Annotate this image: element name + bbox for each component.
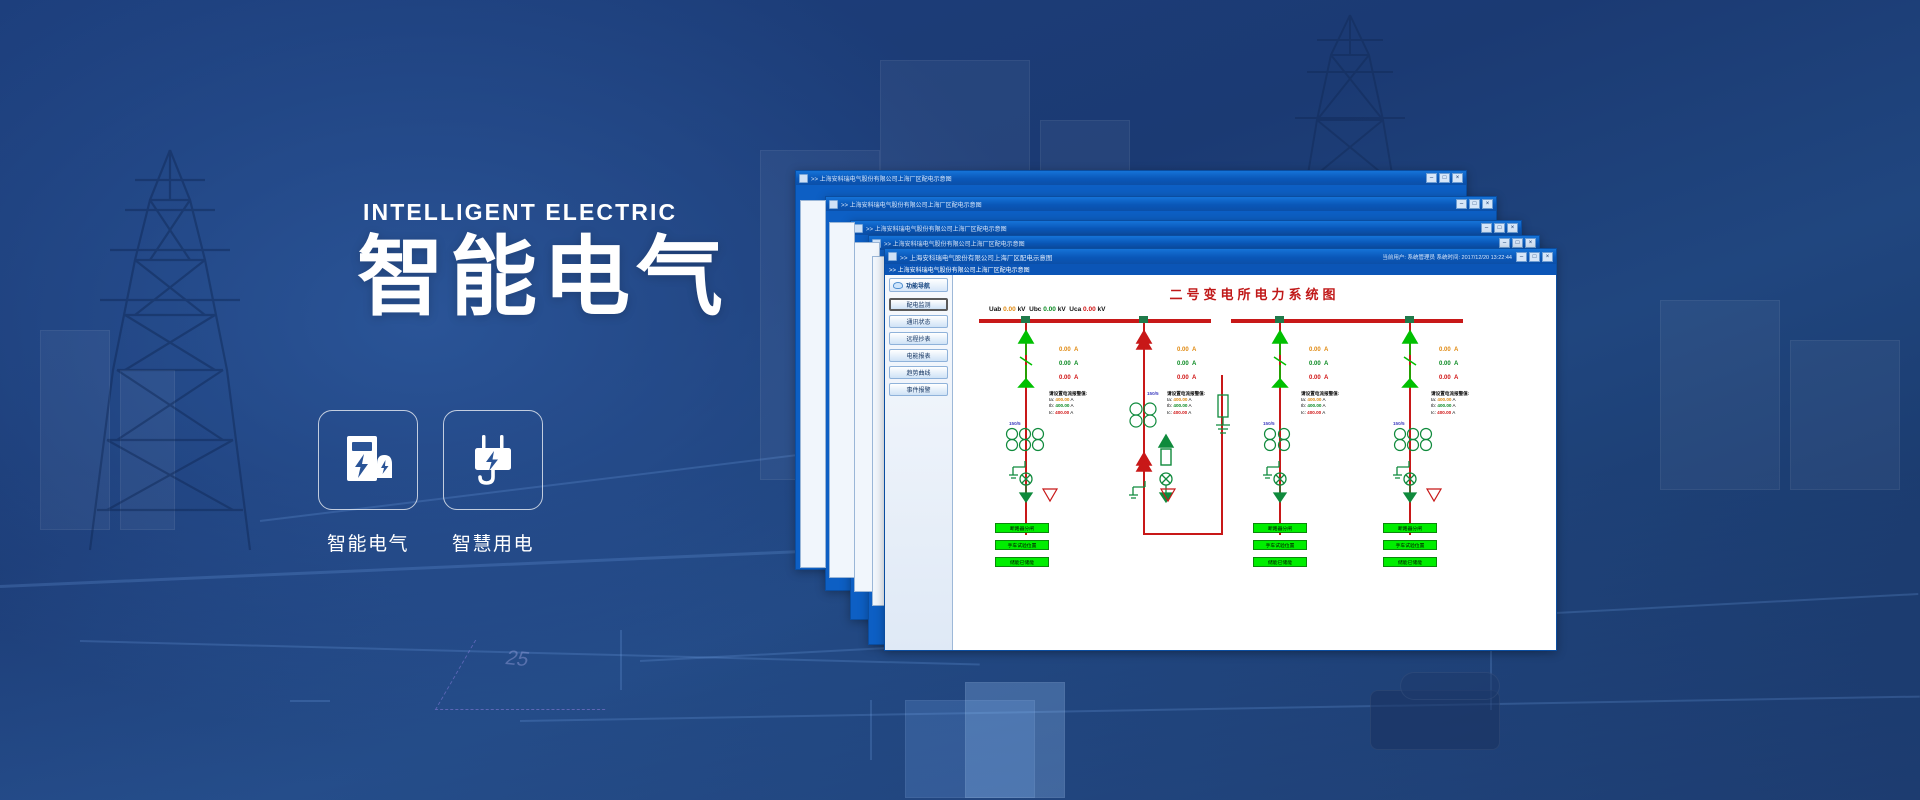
sidebar-item-label: 趋势曲线 <box>906 368 930 377</box>
window-title-text: >> 上海安科瑞电气股份有限公司上海厂区配电示意图 <box>900 252 1382 262</box>
feeder-1-current-c: 0.00 A <box>1059 375 1078 381</box>
ubc-unit: kV <box>1058 306 1066 313</box>
sidebar-item-label: 事件报警 <box>906 385 930 394</box>
window-controls[interactable]: – □ × <box>1426 173 1463 183</box>
surge-arrester-icon <box>1015 471 1037 505</box>
window-controls[interactable]: – □ × <box>1516 252 1553 262</box>
disconnector-switch-icon <box>1011 327 1041 397</box>
feeder-1-current-b: 0.00 A <box>1059 361 1078 367</box>
uca-unit: kV <box>1098 306 1106 313</box>
load-arrow-icon <box>1425 487 1443 509</box>
feeder-4-current-a: 0.00 A <box>1439 347 1458 353</box>
function-navigation-sidebar: 功能导航 配电监测 通讯状态 远程抄表 电能报表 趋势曲线 事件报警 <box>885 275 953 650</box>
window-app-icon <box>829 200 838 209</box>
window-breadcrumb-bar: >> 上海安科瑞电气股份有限公司上海厂区配电示意图 <box>885 264 1556 275</box>
minimize-icon[interactable]: – <box>1499 238 1510 248</box>
diagram-title: 二号变电所电力系统图 <box>1169 284 1339 303</box>
feeder-4-current-c: 0.00 A <box>1439 375 1458 381</box>
feeder-3-alarm-settings: 请设置电流报警值: Ia: 400.00 A Ib: 400.00 A Ic: … <box>1301 391 1339 416</box>
surge-arrester-icon <box>1399 471 1421 505</box>
sidebar-header-label: 功能导航 <box>906 281 930 290</box>
ubc-value: 0.00 <box>1043 306 1056 313</box>
ubc-label: Ubc <box>1029 306 1041 313</box>
window-app-icon <box>854 224 863 233</box>
uca-label: Uca <box>1069 306 1081 313</box>
window-titlebar[interactable]: >> 上海安科瑞电气股份有限公司上海厂区配电示意图 – □ × <box>851 221 1521 235</box>
feeder-2-current-b: 0.00 A <box>1177 361 1196 367</box>
feeder-1-status-breaker[interactable]: 断路器分闸 <box>995 523 1049 533</box>
surge-arrester-icon <box>1269 471 1291 505</box>
minimize-icon[interactable]: – <box>1516 252 1527 262</box>
maximize-icon[interactable]: □ <box>1439 173 1450 183</box>
feeder-4-alarm-settings: 请设置电流报警值: Ia: 400.00 A Ib: 400.00 A Ic: … <box>1431 391 1469 416</box>
bus-voltage-readout: Uab 0.00 kV Ubc 0.00 kV Uca 0.00 kV <box>989 306 1105 313</box>
window-titlebar[interactable]: >> 上海安科瑞电气股份有限公司上海厂区配电示意图 – □ × <box>796 171 1466 185</box>
window-title-text: >> 上海安科瑞电气股份有限公司上海厂区配电示意图 <box>884 239 1499 248</box>
navigation-book-icon <box>893 282 903 289</box>
window-app-icon <box>888 252 897 261</box>
minimize-icon[interactable]: – <box>1481 223 1492 233</box>
maximize-icon[interactable]: □ <box>1512 238 1523 248</box>
feeder-3-ct-ratio: 150/5 <box>1263 421 1275 426</box>
uab-label: Uab <box>989 306 1001 313</box>
stacked-sidebar-column <box>800 200 826 568</box>
earthing-switch-icon <box>1129 481 1163 509</box>
feeder-2-ct-ratio: 150/5 <box>1147 391 1159 396</box>
feeder-2-alarm-settings: 请设置电流报警值: Ia: 400.00 A Ib: 400.00 A Ic: … <box>1167 391 1205 416</box>
window-stack: >> 上海安科瑞电气股份有限公司上海厂区配电示意图 – □ × >> 上海安科瑞… <box>0 0 1920 800</box>
active-window[interactable]: >> 上海安科瑞电气股份有限公司上海厂区配电示意图 当前用户: 系统管理员 系统… <box>884 248 1557 651</box>
uca-value: 0.00 <box>1083 306 1096 313</box>
close-icon[interactable]: × <box>1507 223 1518 233</box>
current-transformer-icon <box>1393 427 1435 453</box>
current-transformer-icon <box>1129 401 1159 429</box>
sidebar-item-remote-reading[interactable]: 远程抄表 <box>889 332 948 345</box>
current-transformer-icon <box>1005 427 1047 453</box>
feeder-1-ct-ratio: 150/5 <box>1009 421 1021 426</box>
window-app-icon <box>799 174 808 183</box>
feeder-2-current-a: 0.00 A <box>1177 347 1196 353</box>
feeder-3-current-b: 0.00 A <box>1309 361 1328 367</box>
feeder-4-current-b: 0.00 A <box>1439 361 1458 367</box>
close-icon[interactable]: × <box>1525 238 1536 248</box>
feeder-4-status-energy[interactable]: 储能已储能 <box>1383 557 1437 567</box>
sidebar-item-label: 远程抄表 <box>906 334 930 343</box>
feeder-1-status-truck[interactable]: 手车试验位置 <box>995 540 1049 550</box>
feeder-3-current-c: 0.00 A <box>1309 375 1328 381</box>
stacked-sidebar-column <box>829 222 855 578</box>
feeder-1-current-a: 0.00 A <box>1059 347 1078 353</box>
minimize-icon[interactable]: – <box>1456 199 1467 209</box>
tie-line <box>1143 533 1223 535</box>
load-arrow-icon <box>1041 487 1059 509</box>
sidebar-header: 功能导航 <box>889 278 948 292</box>
feeder-4-status-breaker[interactable]: 断路器分闸 <box>1383 523 1437 533</box>
sidebar-item-label: 电能报表 <box>906 351 930 360</box>
sidebar-item-label: 通讯状态 <box>906 317 930 326</box>
maximize-icon[interactable]: □ <box>1469 199 1480 209</box>
sidebar-item-event-alarm[interactable]: 事件报警 <box>889 383 948 396</box>
busbar-right <box>1231 319 1463 323</box>
minimize-icon[interactable]: – <box>1426 173 1437 183</box>
feeder-3-status-energy[interactable]: 储能已储能 <box>1253 557 1307 567</box>
window-title-status: 当前用户: 系统管理员 系统时间: 2017/12/20 13:22:44 <box>1382 253 1512 261</box>
disconnector-switch-icon <box>1265 327 1295 397</box>
window-titlebar[interactable]: >> 上海安科瑞电气股份有限公司上海厂区配电示意图 当前用户: 系统管理员 系统… <box>885 249 1556 264</box>
window-title-text: >> 上海安科瑞电气股份有限公司上海厂区配电示意图 <box>841 200 1456 209</box>
close-icon[interactable]: × <box>1452 173 1463 183</box>
feeder-3-status-truck[interactable]: 手车试验位置 <box>1253 540 1307 550</box>
maximize-icon[interactable]: □ <box>1529 252 1540 262</box>
maximize-icon[interactable]: □ <box>1494 223 1505 233</box>
load-arrow-icon <box>1159 487 1177 509</box>
sidebar-item-energy-report[interactable]: 电能报表 <box>889 349 948 362</box>
feeder-2-current-c: 0.00 A <box>1177 375 1196 381</box>
uab-value: 0.00 <box>1003 306 1016 313</box>
close-icon[interactable]: × <box>1542 252 1553 262</box>
close-icon[interactable]: × <box>1482 199 1493 209</box>
feeder-1-alarm-settings: 请设置电流报警值: Ia: 400.00 A Ib: 400.00 A Ic: … <box>1049 391 1087 416</box>
disconnector-switch-icon <box>1395 327 1425 397</box>
busbar-left <box>979 319 1211 323</box>
circuit-breaker-icon <box>1129 327 1159 387</box>
window-title-text: >> 上海安科瑞电气股份有限公司上海厂区配电示意图 <box>866 224 1481 233</box>
sidebar-item-trend-curve[interactable]: 趋势曲线 <box>889 366 948 379</box>
feeder-4-status-truck[interactable]: 手车试验位置 <box>1383 540 1437 550</box>
single-line-diagram-canvas[interactable]: 二号变电所电力系统图 Uab 0.00 kV Ubc 0.00 kV Uca 0… <box>953 275 1556 650</box>
uab-unit: kV <box>1018 306 1026 313</box>
circuit-breaker-open-icon <box>1131 451 1157 477</box>
breadcrumb: >> 上海安科瑞电气股份有限公司上海厂区配电示意图 <box>889 265 1030 274</box>
feeder-1-status-energy[interactable]: 储能已储能 <box>995 557 1049 567</box>
window-controls[interactable]: – □ × <box>1481 223 1518 233</box>
feeder-3-current-a: 0.00 A <box>1309 347 1328 353</box>
window-controls[interactable]: – □ × <box>1456 199 1493 209</box>
sidebar-item-label: 配电监测 <box>906 300 930 309</box>
sidebar-item-power-monitoring[interactable]: 配电监测 <box>889 298 948 311</box>
current-transformer-icon <box>1263 427 1293 453</box>
window-controls[interactable]: – □ × <box>1499 238 1536 248</box>
window-title-text: >> 上海安科瑞电气股份有限公司上海厂区配电示意图 <box>811 174 1426 183</box>
feeder-4-ct-ratio: 150/5 <box>1393 421 1405 426</box>
window-titlebar[interactable]: >> 上海安科瑞电气股份有限公司上海厂区配电示意图 – □ × <box>826 197 1496 211</box>
voltage-transformer-icon <box>1213 395 1233 447</box>
feeder-3-status-breaker[interactable]: 断路器分闸 <box>1253 523 1307 533</box>
sidebar-item-comm-status[interactable]: 通讯状态 <box>889 315 948 328</box>
